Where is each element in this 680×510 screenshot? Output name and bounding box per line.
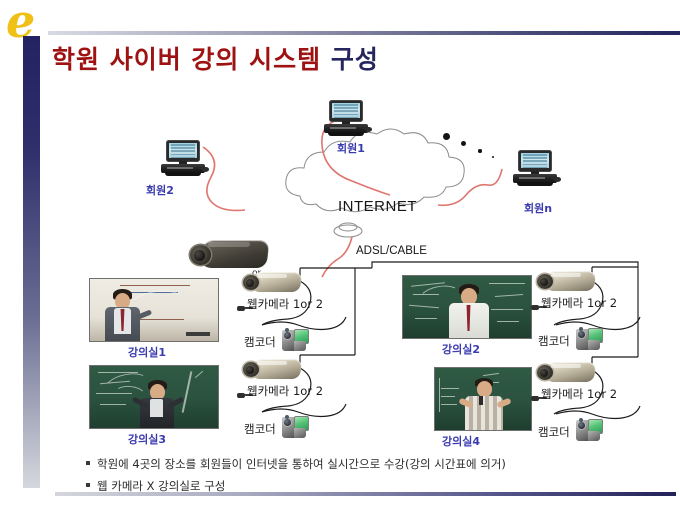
left-accent-bar — [23, 36, 40, 488]
ellipsis-dot — [461, 141, 466, 146]
top-divider — [48, 31, 680, 35]
webcam-icon — [537, 269, 595, 295]
bullet-item: 학원에 4곳의 장소를 회원들이 인터넷을 통하여 실시간으로 수강(강의 시간… — [86, 456, 506, 472]
ellipsis-dot — [492, 156, 494, 158]
summary-bullets: 학원에 4곳의 장소를 회원들이 인터넷을 통하여 실시간으로 수강(강의 시간… — [86, 456, 506, 500]
bullet-item: 웹 카메라 X 강의실로 구성 — [86, 478, 506, 494]
webcam-dark-icon — [190, 238, 268, 272]
classroom-1-camcorder-label: 캠코더 — [244, 334, 276, 350]
classroom-1-webcam-label: 웹카메라 1or 2 — [247, 296, 323, 312]
classroom-4-webcam-label: 웹카메라 1or 2 — [541, 386, 617, 402]
webcam-icon — [243, 357, 301, 383]
classroom-1-label: 강의실1 — [128, 344, 166, 360]
internet-cloud-label: INTERNET — [338, 198, 417, 215]
webcam-icon — [243, 270, 301, 296]
page-title: 학원 사이버 강의 시스템 구성 — [52, 40, 379, 76]
backbone-line — [355, 262, 638, 268]
classroom-3-camcorder-label: 캠코더 — [244, 421, 276, 437]
classroom-2-webcam-label: 웹카메라 1or 2 — [541, 295, 617, 311]
camcorder-icon — [282, 413, 308, 439]
classroom-1-video — [89, 278, 219, 342]
ellipsis-dot — [443, 133, 450, 140]
classroom-4-video — [434, 367, 532, 431]
camcorder-icon — [576, 325, 602, 351]
member-2-label: 회원2 — [146, 182, 174, 198]
presentation-slide: e 학원 사이버 강의 시스템 구성 — [0, 0, 680, 510]
classroom-3-video — [89, 365, 219, 429]
ellipsis-dot — [478, 149, 482, 153]
webcam-icon — [537, 360, 595, 386]
adsl-cable-label: ADSL/CABLE — [356, 245, 427, 257]
page-title-secondary: 구성 — [331, 45, 379, 74]
classroom-2-label: 강의실2 — [442, 341, 480, 357]
member-1-label: 회원1 — [337, 140, 365, 156]
desktop-computer-icon — [323, 100, 371, 138]
internet-cloud-icon — [286, 129, 464, 237]
classroom-4-camcorder-label: 캠코더 — [538, 424, 570, 440]
page-title-primary: 학원 사이버 강의 시스템 — [52, 45, 321, 74]
classroom-2-camcorder-label: 캠코더 — [538, 333, 570, 349]
classroom-3-webcam-label: 웹카메라 1or 2 — [247, 383, 323, 399]
desktop-computer-icon — [160, 140, 208, 178]
classroom-4-label: 강의실4 — [442, 433, 480, 449]
member-n-label: 회원n — [524, 200, 552, 216]
camcorder-icon — [282, 326, 308, 352]
classroom-2-video — [402, 275, 532, 339]
camcorder-icon — [576, 416, 602, 442]
classroom-3-label: 강의실3 — [128, 431, 166, 447]
desktop-computer-icon — [512, 150, 560, 188]
